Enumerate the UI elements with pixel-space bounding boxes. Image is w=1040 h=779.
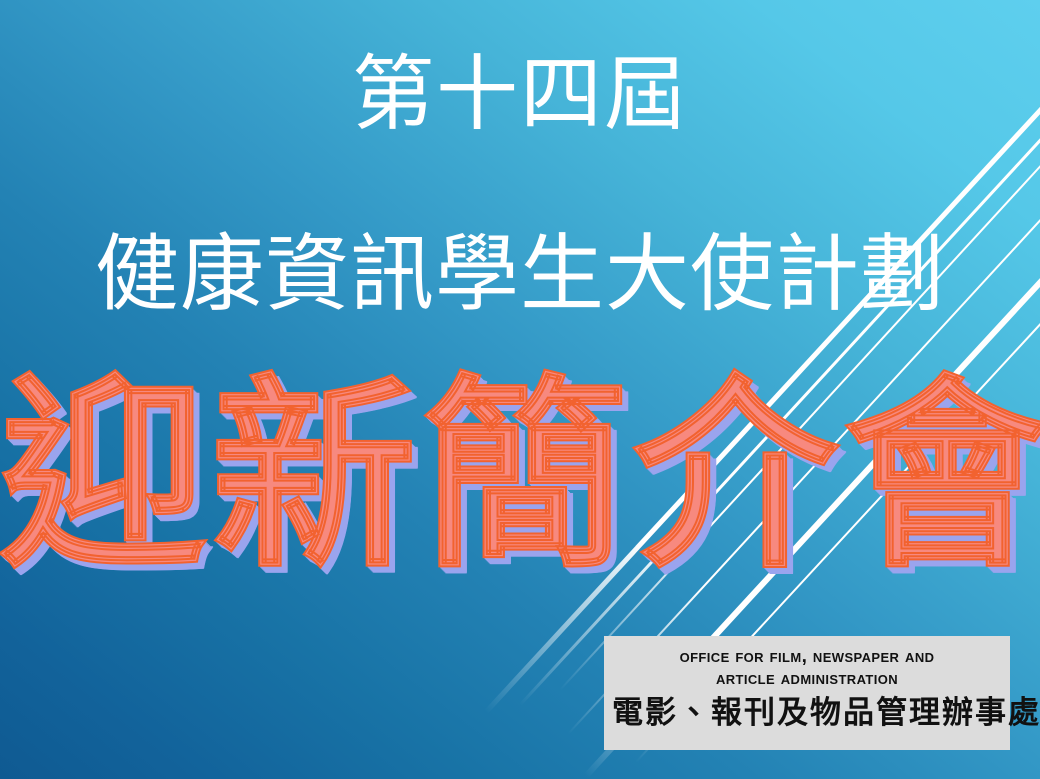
edition-line: 第十四屆 [0,52,1040,138]
organisation-caption-box: Office for Film, Newspaper and Article A… [604,636,1010,750]
organisation-name-english-line2: Article Administration [612,668,1002,690]
headline-container: 迎新簡介會 [0,372,1040,581]
presentation-slide: 第十四屆 健康資訊學生大使計劃 迎新簡介會 Office for Film, N… [0,0,1040,779]
organisation-name-chinese: 電影、報刊及物品管理辦事處 [612,696,1002,729]
event-headline: 迎新簡介會 [0,372,1040,581]
programme-title: 健康資訊學生大使計劃 [0,230,1040,322]
organisation-name-english-line1: Office for Film, Newspaper and [612,646,1002,668]
